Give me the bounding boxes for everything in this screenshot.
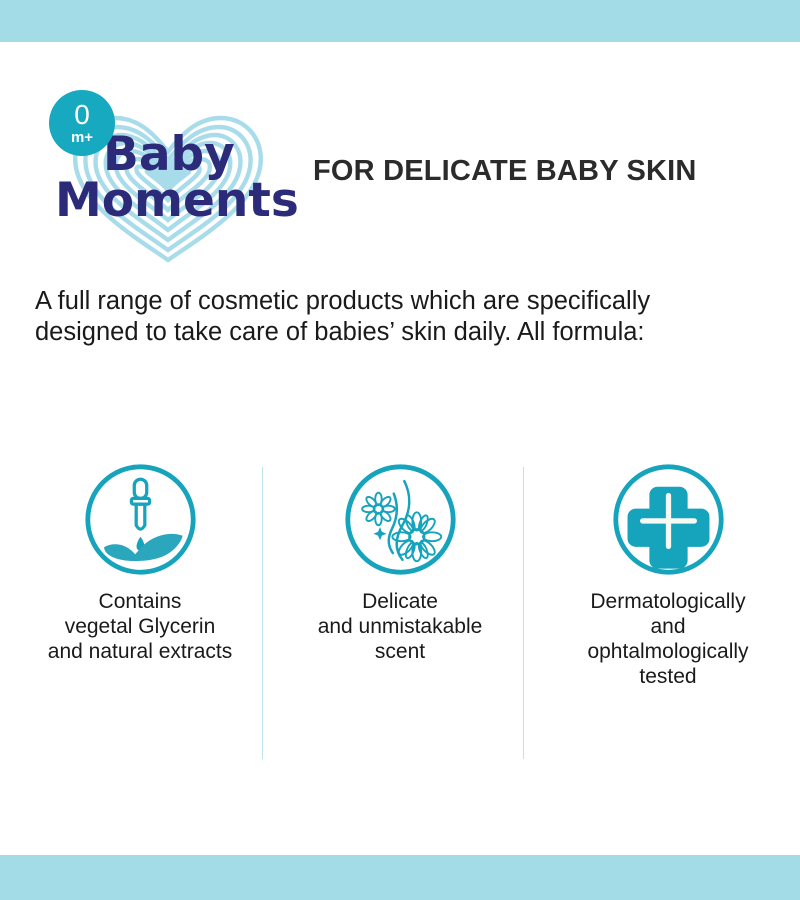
page-title: FOR DELICATE BABY SKIN [313, 155, 697, 188]
top-accent-band [0, 0, 800, 42]
feature-caption-line: and unmistakable [267, 614, 533, 639]
feature-caption-line: Delicate [267, 589, 533, 614]
age-badge-zero: 0 [74, 101, 90, 129]
dropper-leaves-icon [83, 462, 198, 577]
wordmark-line-moments: Moments [55, 173, 299, 228]
feature-caption: Contains vegetal Glycerin and natural ex… [7, 589, 273, 664]
feature-caption-line: vegetal Glycerin [7, 614, 273, 639]
feature-caption-line: and natural extracts [7, 639, 273, 664]
bottom-accent-band [0, 855, 800, 900]
feature-caption-line: ophtalmologically [535, 639, 800, 664]
medical-cross-icon [611, 462, 726, 577]
feature-item: Delicate and unmistakable scent [267, 462, 533, 664]
feature-caption-line: and [535, 614, 800, 639]
feature-caption: Delicate and unmistakable scent [267, 589, 533, 664]
feature-caption-line: scent [267, 639, 533, 664]
feature-item: Dermatologically and ophtalmologically t… [535, 462, 800, 689]
age-badge-unit: m+ [71, 130, 93, 145]
product-info-banner: 0 m+ Baby Moments FOR DELICATE BABY SKIN… [0, 0, 800, 900]
feature-list: Contains vegetal Glycerin and natural ex… [0, 462, 800, 782]
flowers-scent-icon [343, 462, 458, 577]
feature-caption-line: tested [535, 664, 800, 689]
intro-paragraph: A full range of cosmetic products which … [35, 286, 755, 348]
feature-caption: Dermatologically and ophtalmologically t… [535, 589, 800, 689]
feature-caption-line: Contains [7, 589, 273, 614]
feature-item: Contains vegetal Glycerin and natural ex… [7, 462, 273, 664]
feature-caption-line: Dermatologically [535, 589, 800, 614]
age-badge: 0 m+ [49, 90, 115, 156]
baby-moments-logo: 0 m+ Baby Moments [45, 80, 315, 265]
header-row: 0 m+ Baby Moments FOR DELICATE BABY SKIN [0, 75, 800, 275]
